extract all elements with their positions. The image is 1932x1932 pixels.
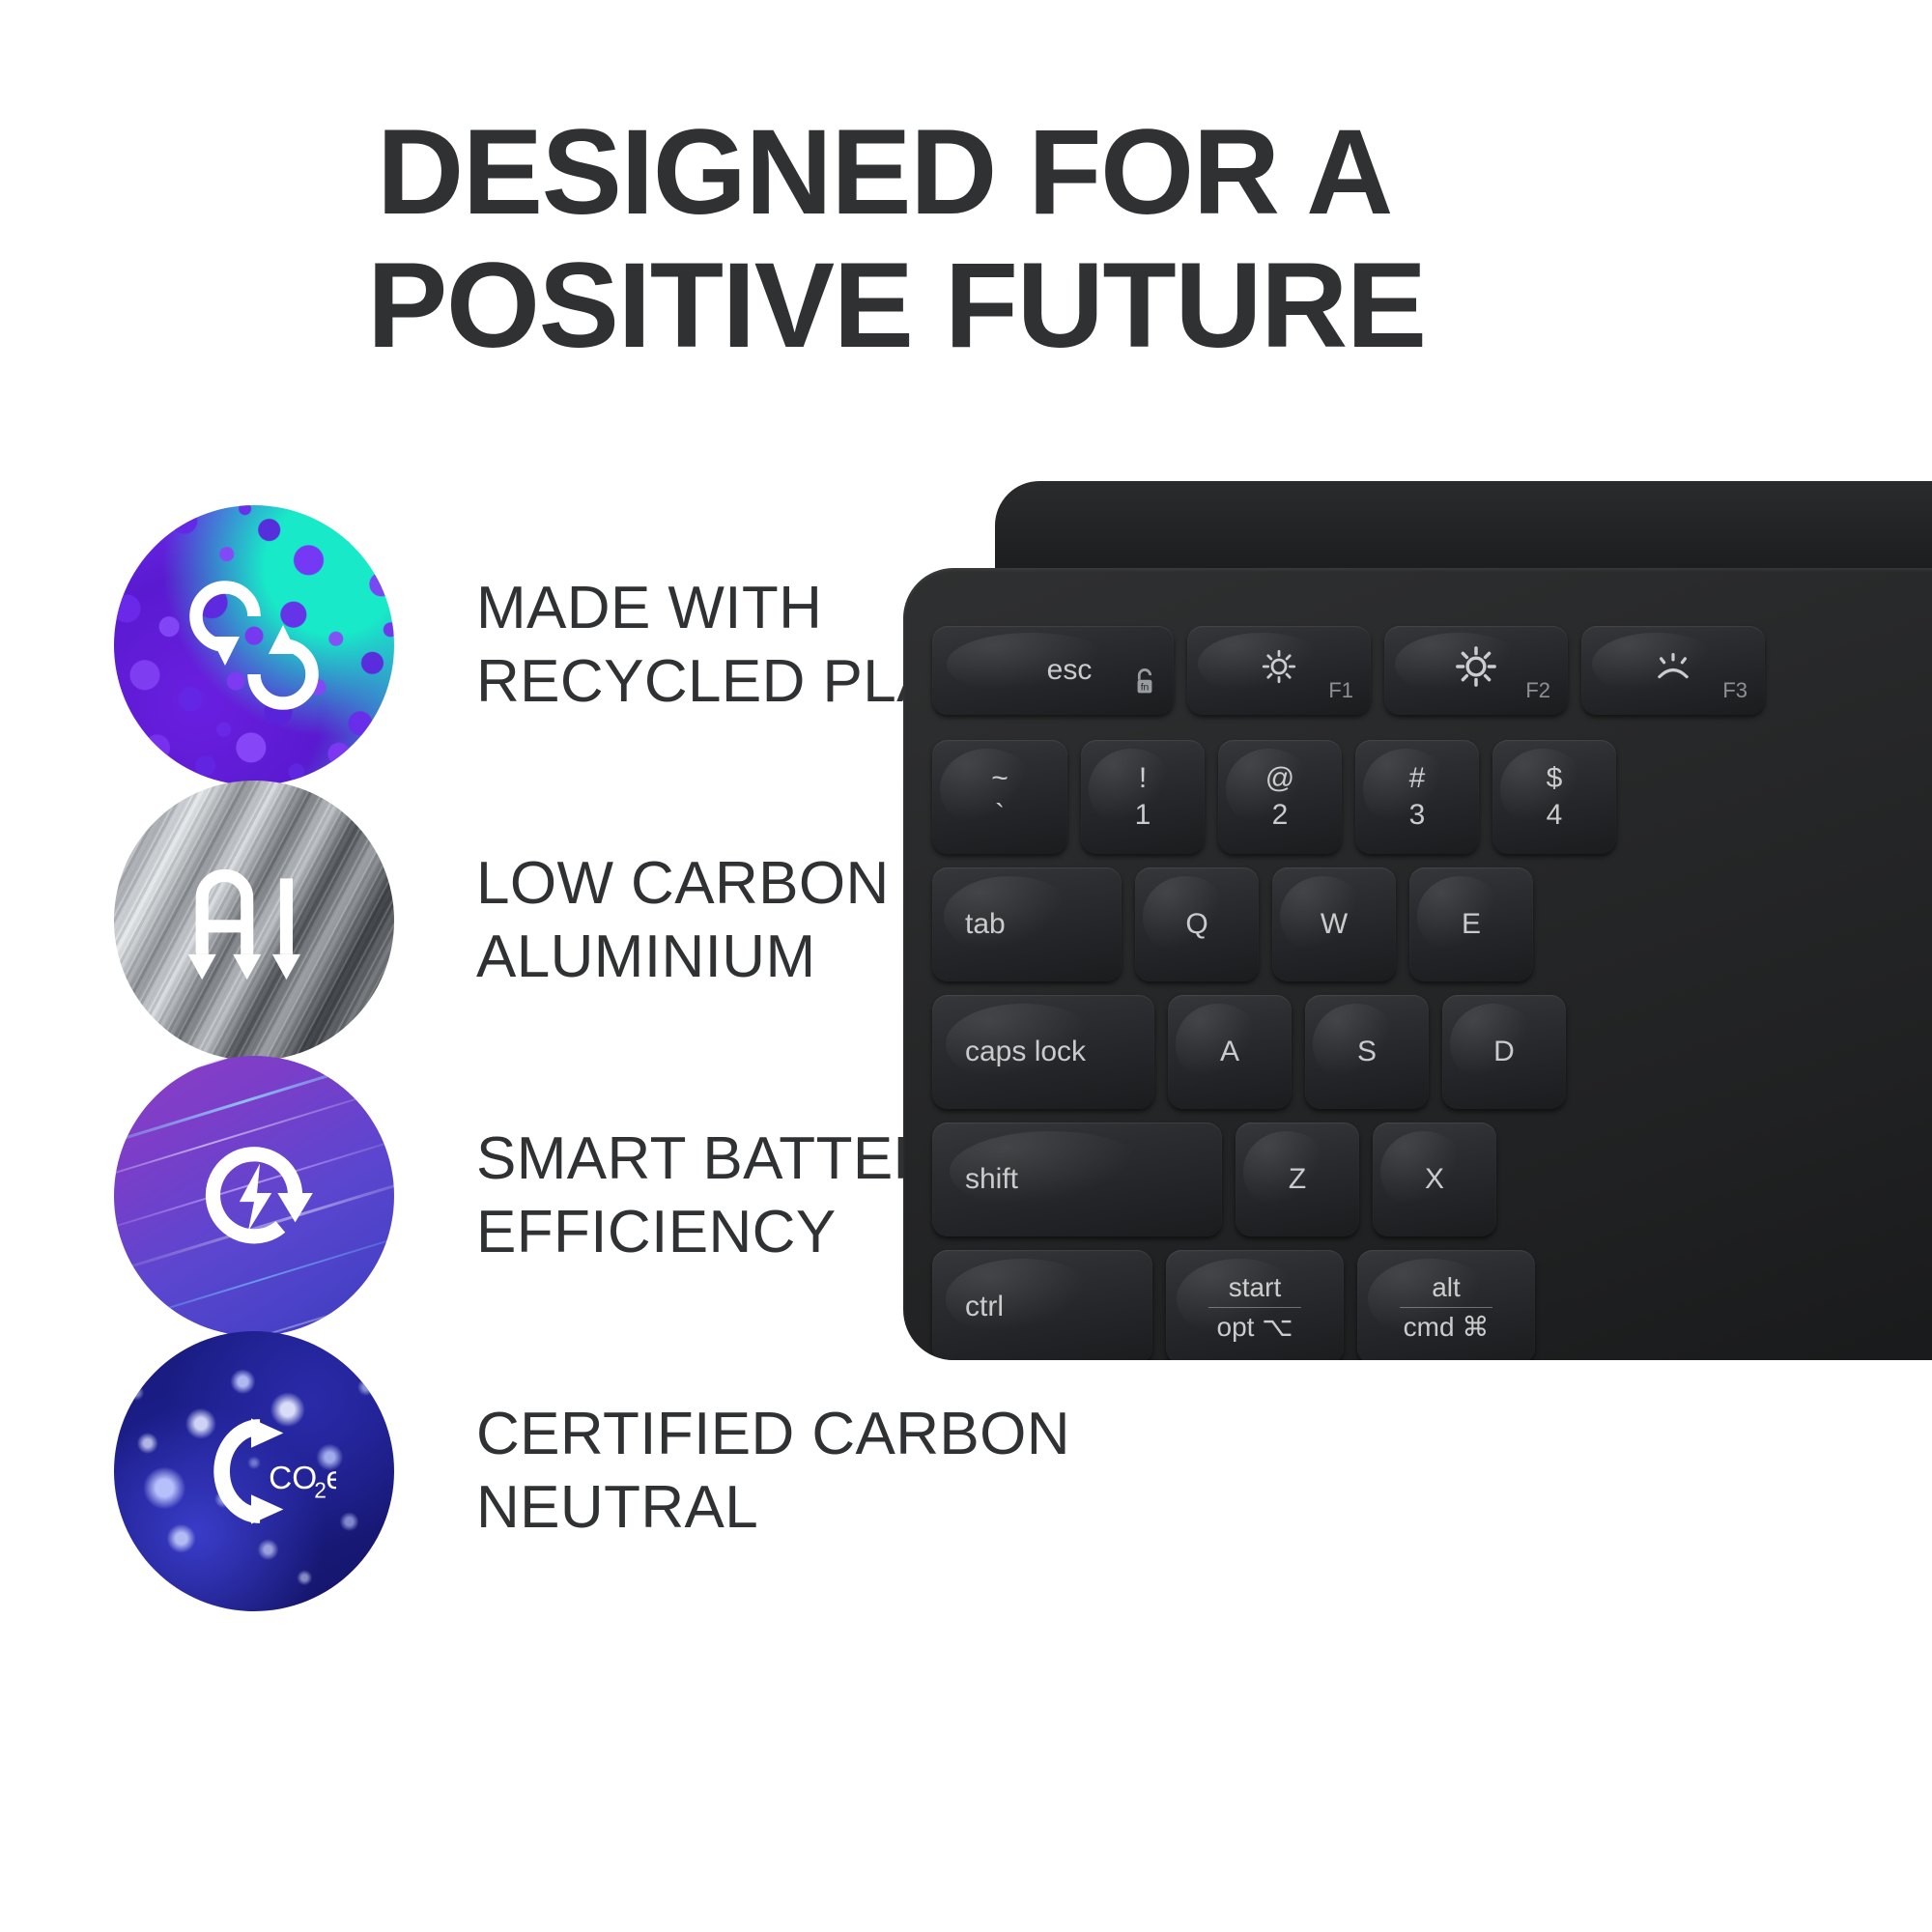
keyboard-shift-row: shift Z X — [932, 1122, 1496, 1236]
fn-lock-icon: fn — [1131, 667, 1158, 705]
keyboard-product-photo: esc fn — [903, 481, 1932, 1350]
key-e[interactable]: E — [1409, 867, 1533, 981]
carbon-neutral-co2e-icon: CO 2 e — [114, 1331, 394, 1611]
key-f3-backlight[interactable]: F3 — [1581, 626, 1765, 715]
key-ctrl[interactable]: ctrl — [932, 1250, 1152, 1360]
battery-bolt-cycle-icon — [114, 1056, 394, 1336]
key-tab[interactable]: tab — [932, 867, 1122, 981]
svg-text:e: e — [326, 1461, 336, 1496]
recycle-loop-glyph — [182, 573, 327, 718]
aluminium-down-arrows-icon — [114, 781, 394, 1061]
page-title: DESIGNED FOR A POSITIVE FUTURE — [377, 106, 1652, 372]
keyboard-home-row: caps lock A S D — [932, 995, 1566, 1109]
key-shift[interactable]: shift — [932, 1122, 1222, 1236]
feature-label-low-carbon-aluminium: LOW CARBON ALUMINIUM — [476, 847, 890, 993]
key-f2-label: F2 — [1525, 678, 1550, 703]
key-4[interactable]: $ 4 — [1492, 740, 1616, 854]
recycled-arrows-icon — [114, 505, 394, 785]
key-z[interactable]: Z — [1236, 1122, 1359, 1236]
feature-label-certified-carbon-neutral: CERTIFIED CARBON NEUTRAL — [476, 1398, 1070, 1544]
page-title-line-1: DESIGNED FOR A — [377, 106, 1652, 240]
key-s[interactable]: S — [1305, 995, 1429, 1109]
key-backtick[interactable]: ~ ` — [932, 740, 1067, 854]
feature-label-smart-battery: SMART BATTERY EFFICIENCY — [476, 1122, 976, 1268]
key-2[interactable]: @ 2 — [1218, 740, 1342, 854]
backlight-icon — [1651, 650, 1695, 691]
bolt-in-cycle-glyph — [181, 1122, 327, 1269]
key-3[interactable]: # 3 — [1355, 740, 1479, 854]
svg-text:CO: CO — [269, 1461, 317, 1496]
key-1[interactable]: ! 1 — [1081, 740, 1205, 854]
key-d[interactable]: D — [1442, 995, 1566, 1109]
feature-item-certified-carbon-neutral: CO 2 e CERTIFIED CARBON NEUTRAL — [114, 1333, 1109, 1608]
key-f3-label: F3 — [1722, 678, 1747, 703]
keyboard-qwerty-row: tab Q W E — [932, 867, 1533, 981]
svg-text:2: 2 — [314, 1477, 327, 1502]
key-w[interactable]: W — [1272, 867, 1396, 981]
key-start-opt[interactable]: start opt ⌥ — [1166, 1250, 1344, 1360]
svg-text:fn: fn — [1141, 683, 1150, 694]
key-q[interactable]: Q — [1135, 867, 1259, 981]
key-caps-lock[interactable]: caps lock — [932, 995, 1154, 1109]
key-f1-label: F1 — [1328, 678, 1353, 703]
key-esc[interactable]: esc fn — [932, 626, 1174, 715]
al-down-arrow-glyph — [177, 848, 331, 993]
key-divider — [1400, 1307, 1492, 1308]
co2e-cycle-glyph: CO 2 e — [172, 1394, 336, 1548]
page-title-line-2: POSITIVE FUTURE — [367, 240, 1652, 373]
key-alt-cmd[interactable]: alt cmd ⌘ — [1357, 1250, 1535, 1360]
brightness-down-icon — [1259, 646, 1299, 695]
key-f2-brightness-up[interactable]: F2 — [1384, 626, 1568, 715]
keyboard-body: esc fn — [903, 568, 1932, 1360]
key-divider — [1208, 1307, 1301, 1308]
keyboard-function-row: esc fn — [932, 626, 1765, 715]
keyboard-number-row: ~ ` ! 1 @ 2 # 3 $ 4 — [932, 740, 1616, 854]
key-x[interactable]: X — [1373, 1122, 1496, 1236]
key-a[interactable]: A — [1168, 995, 1292, 1109]
key-f1-brightness-down[interactable]: F1 — [1187, 626, 1371, 715]
keyboard-bottom-row: ctrl start opt ⌥ alt cmd ⌘ — [932, 1250, 1535, 1360]
brightness-up-icon — [1454, 644, 1498, 696]
